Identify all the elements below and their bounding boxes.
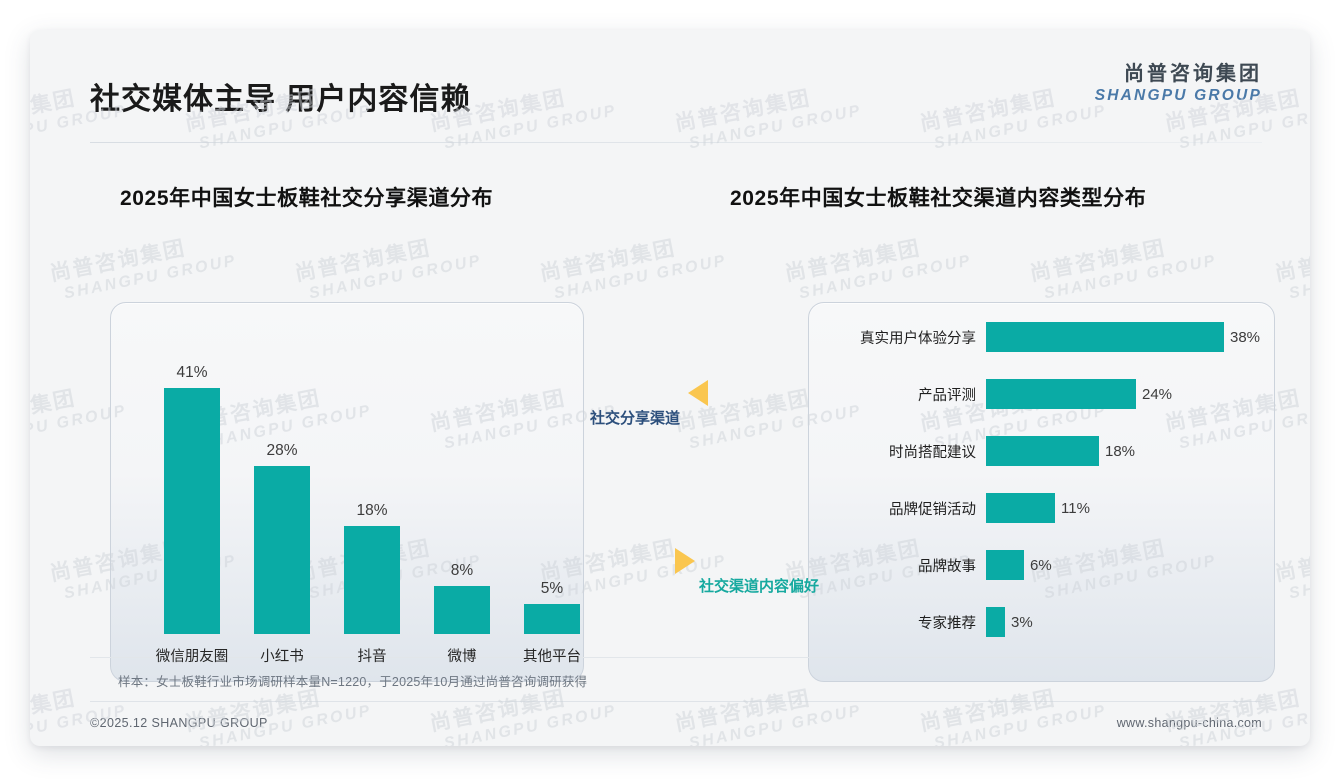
annotation-right-label: 社交渠道内容偏好 — [699, 575, 819, 596]
bar-value-label: 38% — [1230, 329, 1260, 346]
bar-value-label: 41% — [164, 364, 220, 382]
triangle-left-icon — [688, 380, 708, 406]
bar-column: 8%微博 — [434, 586, 490, 634]
logo-english-text: SHANGPU GROUP — [1095, 87, 1262, 106]
bar-category-label: 专家推荐 — [808, 612, 986, 633]
bar-category-label: 真实用户体验分享 — [808, 327, 986, 348]
bar-column: 41%微信朋友圈 — [164, 388, 220, 634]
page-title: 社交媒体主导 用户内容信赖 — [90, 74, 471, 118]
bar-category-label: 微博 — [418, 645, 506, 666]
bar-fill — [164, 388, 220, 634]
bar-value-label: 6% — [1030, 557, 1052, 574]
bar-category-label: 时尚搭配建议 — [808, 441, 986, 462]
copyright-text: ©2025.12 SHANGPU GROUP — [90, 716, 268, 730]
bar-fill — [524, 604, 580, 634]
bar-fill — [986, 436, 1099, 466]
bar-column: 5%其他平台 — [524, 604, 580, 634]
bar-value-label: 3% — [1011, 614, 1033, 631]
annotation-left-label: 社交分享渠道 — [590, 407, 680, 428]
bar-fill — [254, 466, 310, 634]
bar-category-label: 其他平台 — [508, 645, 596, 666]
bar-category-label: 品牌故事 — [808, 555, 986, 576]
brand-logo: 尚普咨询集团 SHANGPU GROUP — [1095, 62, 1262, 106]
header-divider — [90, 142, 1262, 143]
bar-fill — [986, 607, 1005, 637]
watermark-text: 尚普咨询集团SHANGPU GROUP — [30, 673, 128, 746]
bar-row: 品牌故事6% — [808, 550, 1275, 580]
watermark-text: 尚普咨询集团SHANGPU GROUP — [1162, 673, 1310, 746]
slide-header: 社交媒体主导 用户内容信赖 尚普咨询集团 SHANGPU GROUP — [30, 30, 1310, 116]
bar-value-label: 5% — [524, 580, 580, 598]
watermark-text: 尚普咨询集团SHANGPU GROUP — [917, 673, 1108, 746]
bar-row: 专家推荐3% — [808, 607, 1275, 637]
bar-row: 产品评测24% — [808, 379, 1275, 409]
right-chart-title: 2025年中国女士板鞋社交渠道内容类型分布 — [730, 182, 1146, 212]
bar-value-label: 8% — [434, 562, 490, 580]
footer-divider — [90, 701, 1262, 702]
bar-category-label: 抖音 — [328, 645, 416, 666]
bar-row: 品牌促销活动11% — [808, 493, 1275, 523]
bar-column: 28%小红书 — [254, 466, 310, 634]
bar-category-label: 产品评测 — [808, 384, 986, 405]
bar-fill — [986, 379, 1136, 409]
bar-value-label: 18% — [344, 502, 400, 520]
bar-value-label: 18% — [1105, 443, 1135, 460]
logo-chinese-text: 尚普咨询集团 — [1095, 62, 1262, 87]
bar-fill — [344, 526, 400, 634]
bar-row: 真实用户体验分享38% — [808, 322, 1275, 352]
bar-category-label: 微信朋友圈 — [148, 645, 236, 666]
bar-column: 18%抖音 — [344, 526, 400, 634]
website-text: www.shangpu-china.com — [1117, 716, 1262, 730]
bar-row: 时尚搭配建议18% — [808, 436, 1275, 466]
bar-fill — [986, 493, 1055, 523]
charts-region: 2025年中国女士板鞋社交分享渠道分布 2025年中国女士板鞋社交渠道内容类型分… — [30, 150, 1310, 646]
bar-value-label: 11% — [1061, 500, 1090, 517]
bar-fill — [986, 550, 1024, 580]
left-chart-title: 2025年中国女士板鞋社交分享渠道分布 — [120, 182, 493, 212]
bar-fill — [986, 322, 1224, 352]
bar-value-label: 28% — [254, 442, 310, 460]
bar-category-label: 小红书 — [238, 645, 326, 666]
watermark-text: 尚普咨询集团SHANGPU GROUP — [672, 673, 863, 746]
bar-category-label: 品牌促销活动 — [808, 498, 986, 519]
horizontal-bar-chart: 真实用户体验分享38%产品评测24%时尚搭配建议18%品牌促销活动11%品牌故事… — [808, 302, 1275, 682]
slide-canvas: 社交媒体主导 用户内容信赖 尚普咨询集团 SHANGPU GROUP 尚普咨询集… — [30, 30, 1310, 746]
bar-value-label: 24% — [1142, 386, 1172, 403]
bar-fill — [434, 586, 490, 634]
triangle-right-icon — [675, 548, 695, 574]
vertical-bar-chart: 41%微信朋友圈28%小红书18%抖音8%微博5%其他平台 — [118, 302, 592, 682]
